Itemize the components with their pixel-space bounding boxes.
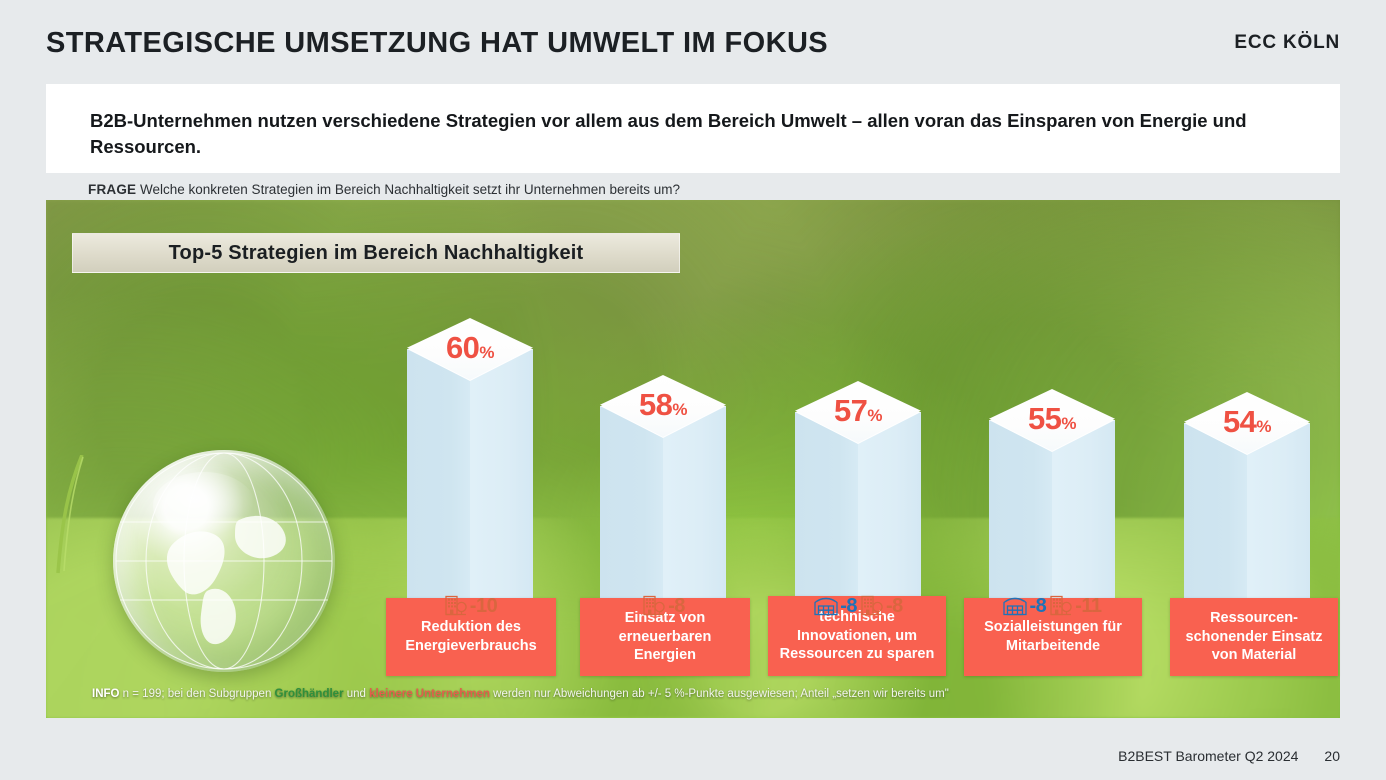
footer-source: B2BEST Barometer Q2 2024 — [1118, 748, 1298, 764]
bar-value-unit: % — [1061, 414, 1076, 433]
subgroup-badge: -10 — [443, 593, 497, 619]
bar-category-label-text: Sozialleistungen für Mitarbeitende — [972, 618, 1134, 655]
subgroup-badge: -8 — [641, 593, 685, 619]
footer-page-number: 20 — [1324, 748, 1340, 764]
info-footnote: INFO n = 199; bei den Subgruppen Großhän… — [92, 688, 949, 700]
bar-column[interactable]: 57%-8-8 — [795, 381, 921, 631]
bar-category-label-text: Reduktion des Energieverbrauchs — [394, 618, 548, 655]
bar-value-number: 54 — [1223, 404, 1256, 439]
subgroup-badge: -8 — [1002, 593, 1046, 619]
subgroup-badge-value: -8 — [840, 595, 857, 618]
building-tree-icon — [859, 593, 885, 619]
subgroup-badge-value: -10 — [470, 595, 497, 618]
bar-column[interactable]: 58%-8 — [600, 375, 726, 631]
bar-badge-row: -8-8 — [795, 593, 921, 619]
bar-value-number: 57 — [834, 393, 867, 428]
info-part3: werden nur Abweichungen ab +/- 5 %-Punkt… — [490, 688, 949, 700]
subgroup-badge: -8 — [813, 593, 857, 619]
bar-face-left — [600, 406, 663, 600]
info-group-kleinere-unternehmen: kleinere Unternehmen — [369, 688, 490, 700]
subgroup-badge-value: -8 — [886, 595, 903, 618]
building-tree-icon — [1048, 593, 1074, 619]
info-label: INFO — [92, 688, 119, 700]
bar-value-unit: % — [867, 406, 882, 425]
bar-face-left — [407, 349, 470, 600]
subgroup-badge-value: -11 — [1075, 595, 1101, 618]
slide: STRATEGISCHE UMSETZUNG HAT UMWELT IM FOK… — [0, 0, 1386, 780]
bar-face-left — [795, 412, 858, 600]
warehouse-icon — [813, 593, 839, 619]
subgroup-badge: -8 — [859, 593, 903, 619]
bar-value-number: 58 — [639, 387, 672, 422]
bar-category-label-text: Ressourcen-schonender Einsatz von Materi… — [1178, 609, 1330, 665]
bar-column[interactable]: 54% — [1184, 392, 1310, 631]
bar-value-label: 55% — [989, 401, 1115, 437]
bar-category-label[interactable]: Ressourcen-schonender Einsatz von Materi… — [1170, 598, 1338, 676]
subgroup-badge-value: -8 — [1029, 595, 1046, 618]
warehouse-icon — [1002, 593, 1028, 619]
bar-badge-row: -8-11 — [989, 593, 1115, 619]
bar-column[interactable]: 55%-8-11 — [989, 389, 1115, 631]
bar-value-number: 60 — [446, 330, 479, 365]
bar-value-unit: % — [479, 343, 494, 362]
bar-value-label: 54% — [1184, 404, 1310, 440]
subgroup-badge-value: -8 — [668, 595, 685, 618]
bar-body — [407, 349, 533, 600]
info-group-grosshaendler: Großhändler — [275, 688, 344, 700]
bar-column[interactable]: 60%-10 — [407, 318, 533, 631]
info-part1: n = 199; bei den Subgruppen — [119, 688, 274, 700]
building-tree-icon — [443, 593, 469, 619]
bar-value-number: 55 — [1028, 401, 1061, 436]
footer: B2BEST Barometer Q2 2024 20 — [1118, 748, 1340, 764]
bar-face-right — [858, 412, 921, 600]
info-part2: und — [344, 688, 370, 700]
bar-badge-row: -10 — [407, 593, 533, 619]
building-tree-icon — [641, 593, 667, 619]
bar-value-label: 57% — [795, 393, 921, 429]
subgroup-badge: -11 — [1048, 593, 1101, 619]
bar-value-label: 60% — [407, 330, 533, 366]
bar-face-right — [470, 349, 533, 600]
bar-value-unit: % — [1256, 417, 1271, 436]
bar-face-right — [663, 406, 726, 600]
bar-badge-row: -8 — [600, 593, 726, 619]
bar-value-unit: % — [672, 400, 687, 419]
bar-value-label: 58% — [600, 387, 726, 423]
bar-chart: 60%-10Reduktion des Energieverbrauchs58%… — [0, 0, 1386, 780]
